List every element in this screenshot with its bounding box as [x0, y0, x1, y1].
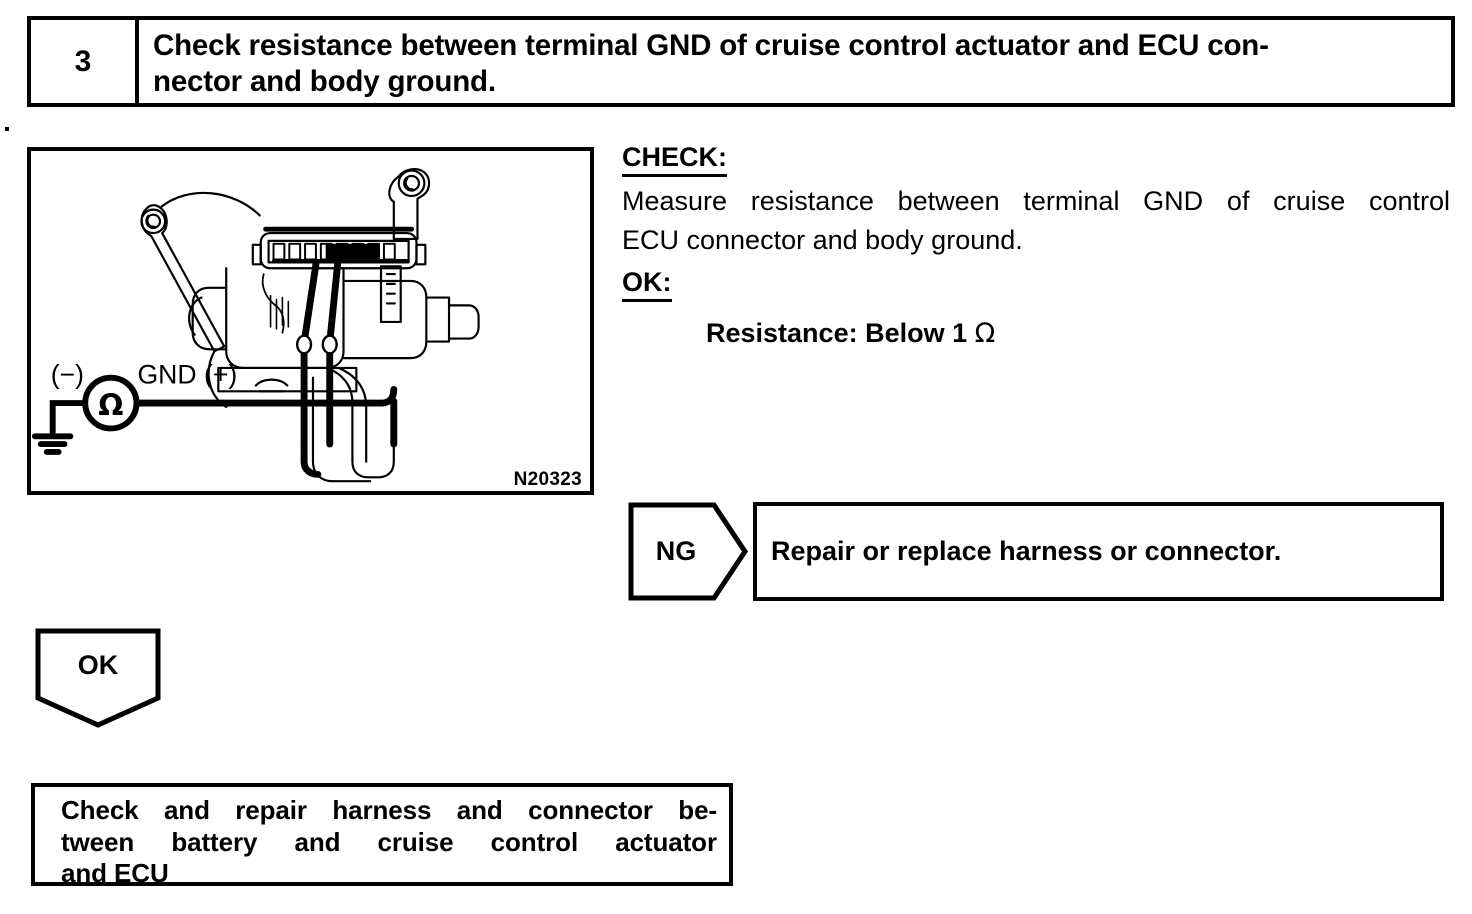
gnd-positive-label: GND (+) [137, 360, 237, 390]
ohmmeter-symbol: Ω [98, 388, 123, 422]
step-number: 3 [75, 47, 92, 77]
result-line-3: and ECU [61, 858, 717, 890]
step-title-line-1: Check resistance between terminal GND of… [153, 28, 1269, 64]
ng-action-text: Repair or replace harness or connector. [771, 535, 1281, 567]
illustration-box: Ω (−) GND (+) N20323 [27, 147, 594, 495]
result-text: Check and repair harness and connector b… [61, 795, 717, 890]
check-label: CHECK: [622, 142, 727, 177]
ok-label: OK: [622, 267, 672, 302]
ohm-unit: Ω [975, 318, 996, 349]
step-title: Check resistance between terminal GND of… [153, 28, 1269, 100]
check-section: CHECK: Measure resistance between termin… [622, 142, 1450, 350]
check-instruction-line-2: ECU connector and body ground. [622, 221, 1450, 260]
result-line-2: tween battery and cruise control actuato… [61, 827, 717, 859]
step-number-cell: 3 [31, 20, 139, 103]
ok-branch-tag: OK [35, 628, 161, 728]
cruise-control-actuator-diagram: Ω (−) GND (+) [31, 151, 590, 491]
ok-tag-label: OK [35, 628, 161, 702]
figure-code: N20323 [514, 470, 582, 489]
ng-branch-tag: NG [628, 502, 748, 601]
step-header: 3 Check resistance between terminal GND … [27, 16, 1455, 107]
ng-action-box: Repair or replace harness or connector. [753, 502, 1444, 601]
scan-artifact-dot [5, 127, 9, 131]
ng-tag-label: NG [628, 502, 724, 601]
step-title-line-2: nector and body ground. [153, 64, 1269, 100]
service-manual-page: 3 Check resistance between terminal GND … [0, 0, 1472, 914]
negative-probe-label: (−) [51, 360, 84, 390]
check-instruction-line-1: Measure resistance between terminal GND … [622, 182, 1450, 221]
resistance-spec: Resistance: Below 1 Ω [706, 317, 1450, 350]
resistance-spec-text: Resistance: Below 1 [706, 318, 975, 348]
step-title-cell: Check resistance between terminal GND of… [139, 20, 1451, 103]
check-instruction: Measure resistance between terminal GND … [622, 182, 1450, 260]
result-line-1: Check and repair harness and connector b… [61, 795, 717, 827]
result-box: Check and repair harness and connector b… [31, 783, 733, 886]
